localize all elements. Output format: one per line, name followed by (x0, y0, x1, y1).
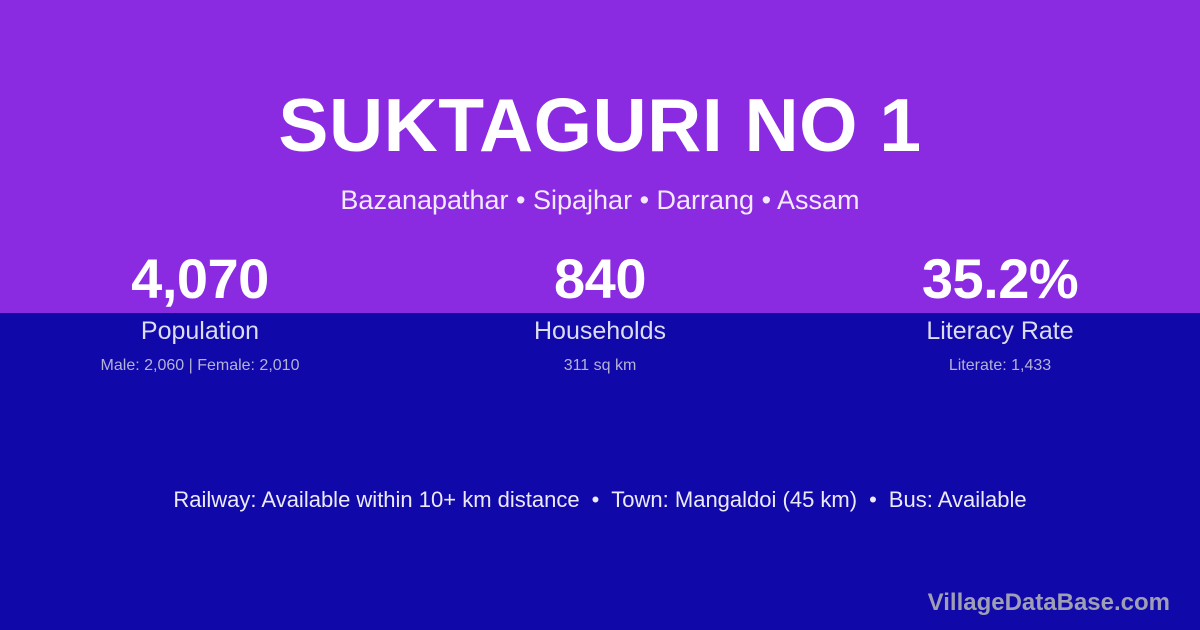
stat-label: Literacy Rate (800, 316, 1200, 346)
stat-sublabel: Male: 2,060 | Female: 2,010 (0, 356, 400, 376)
site-brand: VillageDataBase.com (928, 588, 1170, 618)
stat-value: 35.2% (800, 248, 1200, 310)
amenities-info-line: Railway: Available within 10+ km distanc… (0, 485, 1200, 515)
stat-literacy-rate: 35.2% Literacy Rate Literate: 1,433 (800, 248, 1200, 376)
bullet-separator-icon: • (580, 485, 612, 515)
bus-info: Bus: Available (889, 487, 1027, 512)
stat-value: 4,070 (0, 248, 400, 310)
page-title: SUKTAGURI NO 1 (0, 80, 1200, 170)
railway-info: Railway: Available within 10+ km distanc… (173, 487, 579, 512)
stat-sublabel: Literate: 1,433 (800, 356, 1200, 376)
town-info: Town: Mangaldoi (45 km) (611, 487, 857, 512)
bullet-separator-icon: • (857, 485, 889, 515)
card-content: SUKTAGURI NO 1 Bazanapathar • Sipajhar •… (0, 0, 1200, 630)
stat-households: 840 Households 311 sq km (400, 248, 800, 376)
breadcrumb: Bazanapathar • Sipajhar • Darrang • Assa… (0, 183, 1200, 217)
stat-sublabel: 311 sq km (400, 356, 800, 376)
stat-label: Households (400, 316, 800, 346)
village-info-card: SUKTAGURI NO 1 Bazanapathar • Sipajhar •… (0, 0, 1200, 630)
stats-row: 4,070 Population Male: 2,060 | Female: 2… (0, 248, 1200, 376)
stat-label: Population (0, 316, 400, 346)
stat-population: 4,070 Population Male: 2,060 | Female: 2… (0, 248, 400, 376)
stat-value: 840 (400, 248, 800, 310)
